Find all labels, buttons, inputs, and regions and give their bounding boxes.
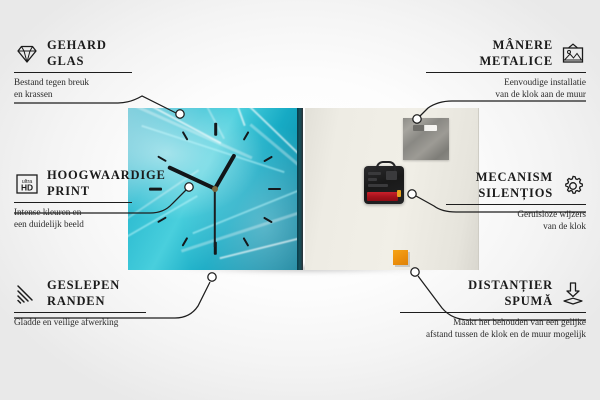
feature-hoogwaardige-print: ultra HD HOOGWAARDIGE PRINT Intense kleu… [14,168,132,231]
feature-subtitle: Eenvoudige installatie van de klok aan d… [426,76,586,100]
feature-subtitle-line2: van de klok [543,221,586,231]
battery-tip [397,190,401,197]
feature-divider [14,72,132,73]
feature-subtitle: Bestand tegen breuk en krassen [14,76,132,100]
feature-subtitle-line1: Gladde en veilige afwerking [14,317,118,327]
battery [367,192,398,201]
clock-mechanism [364,166,404,204]
feature-geslepen-randen: GESLEPEN RANDEN Gladde en veilige afwerk… [14,278,146,328]
feature-title: MECANISM SILENȚIOS [476,170,553,201]
clock-tick [242,131,249,141]
feature-title: HOOGWAARDIGE PRINT [47,168,166,199]
clock-tick [242,237,249,247]
gear-icon [560,173,586,199]
infographic-canvas: GEHARD GLAS Bestand tegen breuk en krass… [0,0,600,400]
clock-second-hand [214,189,216,247]
feature-subtitle: Intense kleuren en een duidelijk beeld [14,206,132,230]
feature-distantier-spuma: DISTANȚIER SPUMĂ Maakt het behouden van … [400,278,586,341]
feature-subtitle-line2: afstand tussen de klok en de muur mogeli… [426,329,586,339]
feature-subtitle-line1: Maakt het behouden van een gelijke [453,317,586,327]
feature-title-line2: METALICE [479,54,553,68]
feature-subtitle: Geruisloze wijzers van de klok [446,208,586,232]
ultra-hd-icon: ultra HD [14,171,40,197]
feature-header: MECANISM SILENȚIOS [446,170,586,201]
feature-header: DISTANȚIER SPUMĂ [400,278,586,309]
feature-divider [400,312,586,313]
feature-title-line1: MÂNERE [493,38,553,52]
clock-tick [214,123,217,136]
foam-spacer [393,250,408,265]
clock-tick [181,237,188,247]
feature-subtitle-line2: een duidelijk beeld [14,219,84,229]
feature-subtitle-line1: Intense kleuren en [14,207,81,217]
feature-title-line2: PRINT [47,184,90,198]
clock-tick [268,188,281,191]
feature-divider [446,204,586,205]
feature-subtitle-line1: Eenvoudige installatie [504,77,586,87]
diamond-icon [14,41,40,67]
feature-title-line1: GESLEPEN [47,278,120,292]
feature-header: GESLEPEN RANDEN [14,278,146,309]
feature-title-line2: SPUMĂ [505,294,553,308]
feature-gehard-glas: GEHARD GLAS Bestand tegen breuk en krass… [14,38,132,101]
feature-title-line2: SILENȚIOS [478,186,553,200]
beveled-edges-icon [14,281,40,307]
feature-header: ultra HD HOOGWAARDIGE PRINT [14,168,132,199]
hanger-slot [413,125,437,131]
feature-subtitle-line1: Bestand tegen breuk [14,77,89,87]
feature-header: GEHARD GLAS [14,38,132,69]
feature-title-line1: MECANISM [476,170,553,184]
product-image [128,108,478,270]
feature-title-line1: HOOGWAARDIGE [47,168,166,182]
feature-title-line2: GLAS [47,54,84,68]
feature-mecanism-silentios: MECANISM SILENȚIOS Geruisloze wijzers va… [446,170,586,233]
clock-center-cap [212,186,218,192]
clock-tick [263,155,273,162]
feature-title: DISTANȚIER SPUMĂ [468,278,553,309]
feature-title: GESLEPEN RANDEN [47,278,120,309]
clock-tick [157,155,167,162]
feature-subtitle-line2: van de klok aan de muur [495,89,586,99]
metal-hanger-plate [403,118,449,160]
picture-hanger-icon [560,41,586,67]
feature-divider [14,312,146,313]
feature-subtitle: Maakt het behouden van een gelijke afsta… [400,316,586,340]
feature-manere-metalice: MÂNERE METALICE Eenvoudige installatie v… [426,38,586,101]
glass-edge [297,108,303,270]
feature-title-line2: RANDEN [47,294,105,308]
feature-title-line1: GEHARD [47,38,107,52]
feature-subtitle-line1: Geruisloze wijzers [517,209,586,219]
feature-header: MÂNERE METALICE [426,38,586,69]
spacer-arrow-icon [560,281,586,307]
feature-title: MÂNERE METALICE [479,38,553,69]
feature-title-line1: DISTANȚIER [468,278,553,292]
clock-hour-hand [213,153,237,190]
svg-text:HD: HD [21,182,33,192]
feature-divider [426,72,586,73]
feature-divider [14,202,132,203]
feature-title: GEHARD GLAS [47,38,107,69]
mechanism-hanger-loop [376,161,396,171]
feature-subtitle-line2: en krassen [14,89,53,99]
feature-subtitle: Gladde en veilige afwerking [14,316,146,328]
